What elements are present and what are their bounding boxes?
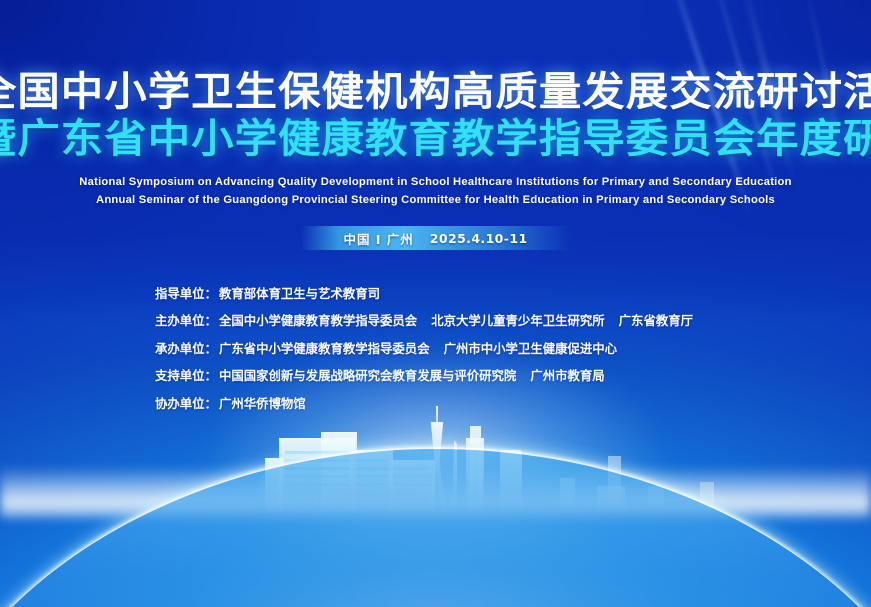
- subtitle-english-line-2: Annual Seminar of the Guangdong Provinci…: [0, 192, 871, 208]
- org-label: 指导单位：: [155, 286, 217, 301]
- banner-date: 2025.4.10-11: [430, 231, 528, 246]
- org-value: 教育部体育卫生与艺术教育司: [219, 286, 380, 301]
- title-block: 全国中小学卫生保健机构高质量发展交流研讨活动 暨广东省中小学健康教育教学指导委员…: [0, 72, 871, 208]
- org-values: 教育部体育卫生与艺术教育司: [219, 286, 394, 301]
- title-line-1: 全国中小学卫生保健机构高质量发展交流研讨活动: [0, 72, 871, 113]
- subtitle-english-line-1: National Symposium on Advancing Quality …: [0, 174, 871, 190]
- conference-poster: 全国中小学卫生保健机构高质量发展交流研讨活动 暨广东省中小学健康教育教学指导委员…: [0, 0, 871, 607]
- location-date-banner-wrap: 中国 I 广州 2025.4.10-11: [0, 226, 871, 250]
- location-date-banner: 中国 I 广州 2025.4.10-11: [301, 226, 571, 250]
- banner-location: 中国 I 广州: [343, 229, 413, 248]
- org-row-guidance: 指导单位：教育部体育卫生与艺术教育司: [155, 288, 707, 300]
- title-line-2: 暨广东省中小学健康教育教学指导委员会年度研讨活动: [0, 119, 871, 160]
